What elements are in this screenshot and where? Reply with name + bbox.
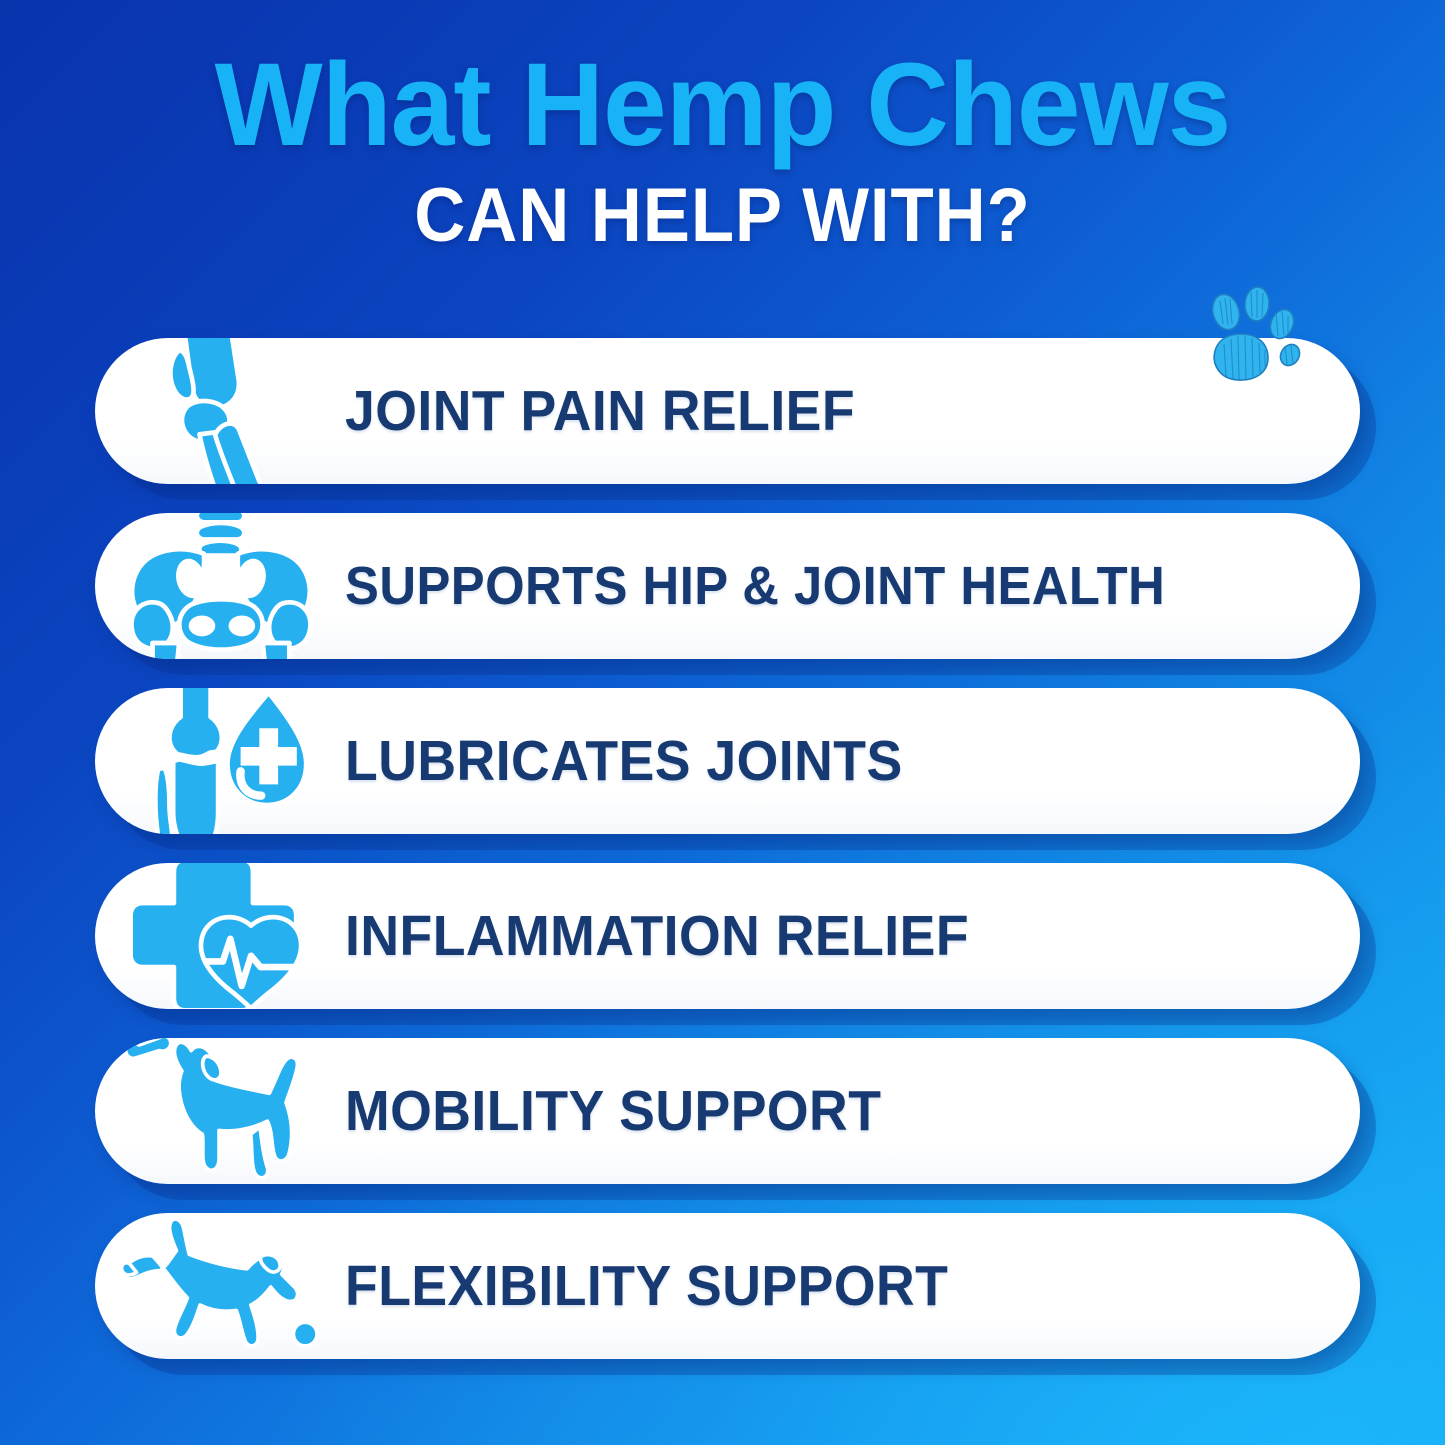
benefits-list: JOINT PAIN RELIEF [0,338,1445,1388]
benefit-capsule[interactable]: INFLAMMATION RELIEF [95,863,1360,1009]
paw-icon [1196,286,1306,384]
benefit-label: SUPPORTS HIP & JOINT HEALTH [345,559,1165,613]
benefit-label: FLEXIBILITY SUPPORT [345,1258,948,1315]
benefit-label: LUBRICATES JOINTS [345,733,903,790]
poster-title-primary: What Hemp Chews [22,0,1424,164]
benefit-capsule[interactable]: LUBRICATES JOINTS [95,688,1360,834]
benefit-row[interactable]: MOBILITY SUPPORT [0,1038,1445,1184]
benefit-capsule[interactable]: SUPPORTS HIP & JOINT HEALTH [95,513,1360,659]
benefit-row[interactable]: FLEXIBILITY SUPPORT [0,1213,1445,1359]
benefit-capsule[interactable]: JOINT PAIN RELIEF [95,338,1360,484]
joint-lubrication-droplet-icon [95,688,345,834]
benefit-row[interactable]: SUPPORTS HIP & JOINT HEALTH [0,513,1445,659]
pelvis-hip-bone-icon [95,513,345,659]
poster-header: What Hemp Chews CAN HELP WITH? [0,0,1445,254]
benefit-label: INFLAMMATION RELIEF [345,908,969,965]
benefit-label: JOINT PAIN RELIEF [345,383,855,440]
medical-cross-heart-pulse-icon [95,863,345,1009]
benefit-row[interactable]: LUBRICATES JOINTS [0,688,1445,834]
jumping-dog-with-ball-icon [95,1213,345,1359]
knee-joint-bone-icon [95,338,345,484]
poster-title-secondary: CAN HELP WITH? [51,164,1395,254]
benefit-capsule[interactable]: MOBILITY SUPPORT [95,1038,1360,1184]
standing-dog-with-bone-icon [95,1038,345,1184]
benefit-row[interactable]: INFLAMMATION RELIEF [0,863,1445,1009]
infographic-poster: What Hemp Chews CAN HELP WITH? [0,0,1445,1445]
benefit-label: MOBILITY SUPPORT [345,1083,881,1140]
benefit-capsule[interactable]: FLEXIBILITY SUPPORT [95,1213,1360,1359]
